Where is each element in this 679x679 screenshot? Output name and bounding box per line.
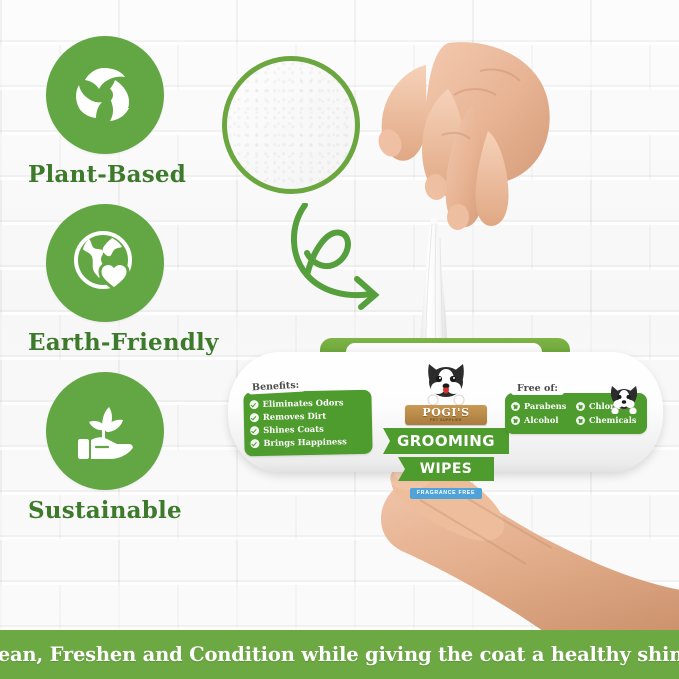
dog-mascot-icon xyxy=(419,360,473,406)
x-circle-icon xyxy=(511,416,520,425)
free-of-item: Alcohol xyxy=(511,413,576,427)
x-circle-icon xyxy=(576,416,585,425)
product-marketing-image: Plant-Based Earth-Friendly xyxy=(0,0,679,679)
product-line-1: GROOMING xyxy=(397,434,495,449)
bottom-banner: Clean, Freshen and Condition while givin… xyxy=(0,630,679,679)
x-circle-icon xyxy=(576,402,585,411)
benefit-label: Eliminates Odors xyxy=(262,396,343,411)
benefit-label: Removes Dirt xyxy=(263,410,327,424)
check-icon xyxy=(250,400,259,409)
brand-logo: POGI'S PET SUPPLIES GROOMING WIPES FRAGR… xyxy=(380,360,512,499)
fragrance-free-badge: FRAGRANCE FREE xyxy=(410,488,482,499)
free-of-label: Parabens xyxy=(524,399,566,413)
feature-list: Plant-Based Earth-Friendly xyxy=(28,36,218,540)
brand-subtitle: PET SUPPLIES xyxy=(430,419,462,423)
check-icon xyxy=(250,426,259,435)
ribbon-grooming: GROOMING xyxy=(383,428,509,454)
benefits-panel: Benefits: Eliminates Odors Removes Dirt … xyxy=(244,376,372,455)
product-package: Benefits: Eliminates Odors Removes Dirt … xyxy=(228,352,663,472)
benefit-label: Brings Happiness xyxy=(263,435,347,450)
feature-earth-friendly: Earth-Friendly xyxy=(28,204,218,354)
brand-name: POGI'S xyxy=(422,407,469,418)
feature-label: Sustainable xyxy=(28,499,218,522)
ribbon-wipes: WIPES xyxy=(398,457,494,481)
check-icon xyxy=(250,413,259,422)
free-of-label: Chemicals xyxy=(589,413,636,427)
free-of-item: Chemicals xyxy=(576,413,641,427)
benefit-item: Brings Happiness xyxy=(250,435,367,450)
free-of-panel: Free of: Parabens Chlorine Alcohol Chemi… xyxy=(505,378,647,434)
feature-plant-based: Plant-Based xyxy=(28,36,218,186)
free-of-label: Alcohol xyxy=(524,413,558,427)
peeking-dog-icon xyxy=(607,384,641,414)
x-circle-icon xyxy=(511,402,520,411)
banner-text: Clean, Freshen and Condition while givin… xyxy=(0,643,679,666)
feature-sustainable: Sustainable xyxy=(28,372,218,522)
feature-label: Plant-Based xyxy=(28,163,218,186)
recycling-leaves-icon xyxy=(46,36,164,154)
benefit-label: Shines Coats xyxy=(263,423,324,437)
free-of-item: Parabens xyxy=(511,399,576,413)
check-icon xyxy=(250,439,259,448)
benefits-list: Eliminates Odors Removes Dirt Shines Coa… xyxy=(243,390,372,457)
free-of-heading: Free of: xyxy=(511,382,564,395)
product-line-2: WIPES xyxy=(420,462,473,476)
feature-label: Earth-Friendly xyxy=(28,331,218,354)
hand-sprout-icon xyxy=(46,372,164,490)
brand-plate: POGI'S PET SUPPLIES xyxy=(405,405,487,425)
globe-heart-icon xyxy=(46,204,164,322)
